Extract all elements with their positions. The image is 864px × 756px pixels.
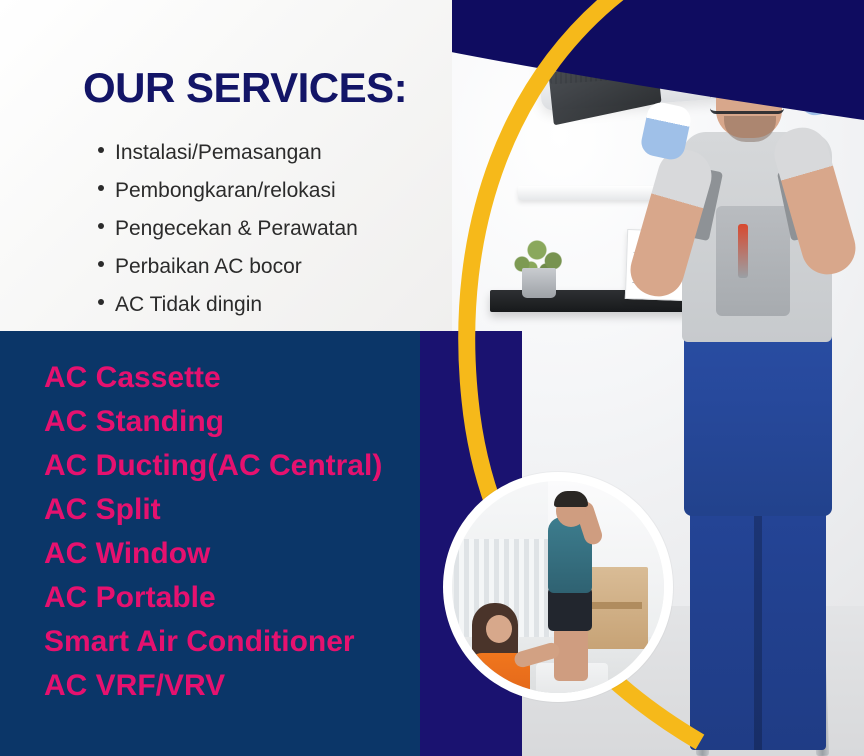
services-list: Instalasi/Pemasangan Pembongkaran/reloka… [98, 142, 358, 315]
list-item: AC Standing [44, 407, 382, 437]
service-label: Perbaikan AC bocor [115, 256, 302, 277]
technician-glove-right [793, 53, 846, 118]
circle-photo [452, 481, 664, 693]
circle-man-legs [554, 627, 588, 681]
service-label: Pembongkaran/relokasi [115, 180, 336, 201]
list-item: AC Split [44, 495, 382, 525]
list-item: Instalasi/Pemasangan [98, 142, 358, 163]
poster-canvas: OUR SERVICES: Instalasi/Pemasangan Pembo… [0, 0, 864, 756]
list-item: Perbaikan AC bocor [98, 256, 358, 277]
bullet-icon [98, 261, 104, 267]
circle-man-hair [554, 491, 588, 507]
technician-glasses [710, 92, 784, 114]
list-item: AC Portable [44, 583, 382, 613]
list-item: AC VRF/VRV [44, 671, 382, 701]
list-item: AC Ducting(AC Central) [44, 451, 382, 481]
bullet-icon [98, 223, 104, 229]
service-label: AC Tidak dingin [115, 294, 262, 315]
bullet-icon [98, 147, 104, 153]
services-card: OUR SERVICES: Instalasi/Pemasangan Pembo… [0, 0, 452, 331]
technician-bib [716, 206, 790, 316]
list-item: AC Window [44, 539, 382, 569]
technician-tool [738, 224, 748, 278]
list-item: AC Tidak dingin [98, 294, 358, 315]
technician-figure [638, 20, 858, 756]
list-item: Smart Air Conditioner [44, 627, 382, 657]
bullet-icon [98, 185, 104, 191]
plant-pot [522, 268, 556, 298]
ac-types-list: AC Cassette AC Standing AC Ducting(AC Ce… [44, 363, 382, 701]
ac-types-panel: AC Cassette AC Standing AC Ducting(AC Ce… [0, 331, 420, 756]
page-title: OUR SERVICES: [83, 67, 407, 109]
technician-leg-seam [754, 490, 762, 750]
list-item: Pengecekan & Perawatan [98, 218, 358, 239]
list-item: AC Cassette [44, 363, 382, 393]
service-label: Instalasi/Pemasangan [115, 142, 322, 163]
list-item: Pembongkaran/relokasi [98, 180, 358, 201]
circle-cabinet-shelf [592, 602, 642, 609]
bullet-icon [98, 299, 104, 305]
service-label: Pengecekan & Perawatan [115, 218, 358, 239]
circle-man-shorts [548, 587, 592, 631]
circle-photo-frame [443, 472, 673, 702]
circle-woman-face [486, 615, 512, 643]
